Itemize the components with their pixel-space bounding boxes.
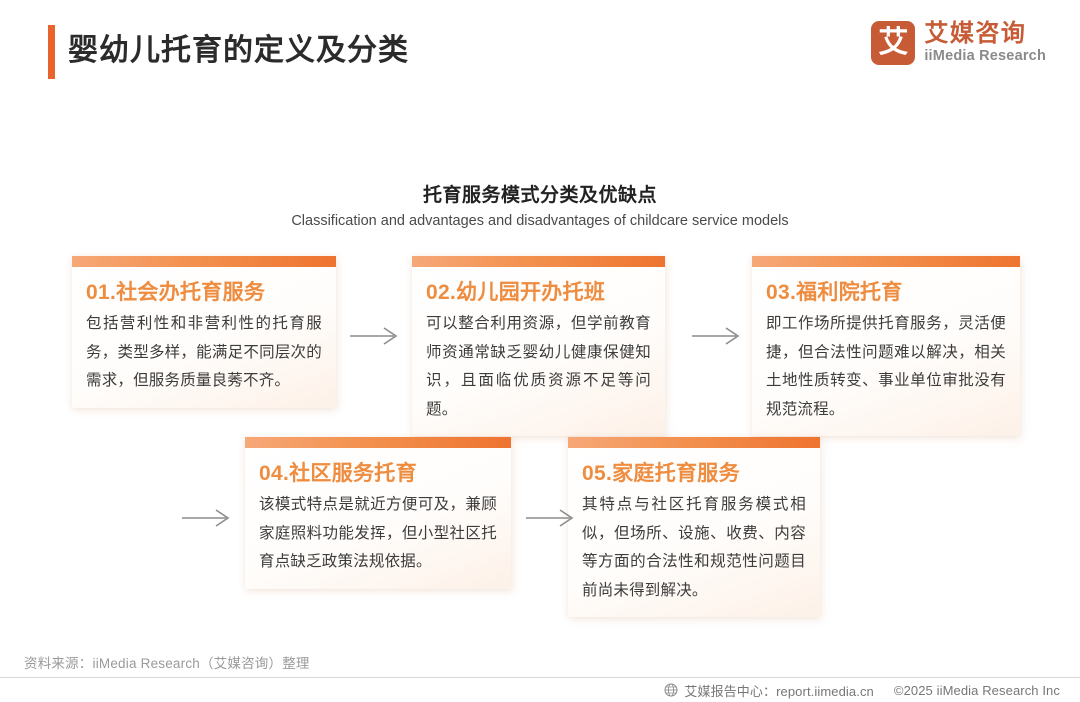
model-card-03: 03.福利院托育 即工作场所提供托育服务，灵活便捷，但合法性问题难以解决，相关土…	[752, 256, 1020, 436]
card-description: 其特点与社区托育服务模式相似，但场所、设施、收费、内容等方面的合法性和规范性问题…	[582, 491, 806, 605]
card-top-bar	[568, 437, 820, 448]
card-description: 即工作场所提供托育服务，灵活便捷，但合法性问题难以解决，相关土地性质转变、事业单…	[766, 310, 1006, 424]
arrow-right-icon	[348, 325, 402, 347]
card-heading: 01.社会办托育服务	[86, 278, 322, 308]
brand-logo-text: 艾媒咨询 iiMedia Research	[924, 21, 1046, 65]
chart-title: 托育服务模式分类及优缺点	[0, 180, 1080, 207]
globe-icon	[664, 683, 678, 697]
iimedia-logo-icon: 艾	[871, 21, 915, 65]
model-card-02: 02.幼儿园开办托班 可以整合利用资源，但学前教育师资通常缺乏婴幼儿健康保健知识…	[412, 256, 665, 436]
card-body: 01.社会办托育服务 包括营利性和非营利性的托育服务，类型多样，能满足不同层次的…	[72, 267, 336, 408]
model-card-05: 05.家庭托育服务 其特点与社区托育服务模式相似，但场所、设施、收费、内容等方面…	[568, 437, 820, 617]
card-top-bar	[245, 437, 511, 448]
arrow-right-icon	[180, 507, 234, 529]
card-top-bar	[412, 256, 665, 267]
source-note: 资料来源：iiMedia Research（艾媒咨询）整理	[24, 652, 310, 672]
card-top-bar	[752, 256, 1020, 267]
report-center-link[interactable]: 艾媒报告中心：report.iimedia.cn	[684, 681, 874, 700]
card-description: 包括营利性和非营利性的托育服务，类型多样，能满足不同层次的需求，但服务质量良莠不…	[86, 310, 322, 396]
card-heading: 03.福利院托育	[766, 278, 1006, 308]
card-heading: 04.社区服务托育	[259, 459, 497, 489]
brand-name-en: iiMedia Research	[924, 48, 1046, 65]
chart-subtitle: Classification and advantages and disadv…	[0, 213, 1080, 229]
model-card-01: 01.社会办托育服务 包括营利性和非营利性的托育服务，类型多样，能满足不同层次的…	[72, 256, 336, 408]
arrow-right-icon	[524, 507, 578, 529]
page-title: 婴幼儿托育的定义及分类	[68, 27, 409, 75]
copyright-text: ©2025 iiMedia Research Inc	[894, 683, 1060, 698]
slide-page: 婴幼儿托育的定义及分类 艾 艾媒咨询 iiMedia Research 托育服务…	[0, 0, 1080, 702]
arrow-right-icon	[690, 325, 744, 347]
card-description: 可以整合利用资源，但学前教育师资通常缺乏婴幼儿健康保健知识，且面临优质资源不足等…	[426, 310, 651, 424]
footer-bar: 艾媒报告中心：report.iimedia.cn ©2025 iiMedia R…	[0, 678, 1080, 702]
brand-name-cn: 艾媒咨询	[924, 21, 1046, 47]
card-body: 05.家庭托育服务 其特点与社区托育服务模式相似，但场所、设施、收费、内容等方面…	[568, 448, 820, 617]
card-heading: 05.家庭托育服务	[582, 459, 806, 489]
card-heading: 02.幼儿园开办托班	[426, 278, 651, 308]
brand-logo: 艾 艾媒咨询 iiMedia Research	[871, 21, 1046, 65]
card-body: 02.幼儿园开办托班 可以整合利用资源，但学前教育师资通常缺乏婴幼儿健康保健知识…	[412, 267, 665, 436]
card-top-bar	[72, 256, 336, 267]
card-description: 该模式特点是就近方便可及，兼顾家庭照料功能发挥，但小型社区托育点缺乏政策法规依据…	[259, 491, 497, 577]
card-body: 03.福利院托育 即工作场所提供托育服务，灵活便捷，但合法性问题难以解决，相关土…	[752, 267, 1020, 436]
title-accent-bar	[48, 25, 55, 79]
model-card-04: 04.社区服务托育 该模式特点是就近方便可及，兼顾家庭照料功能发挥，但小型社区托…	[245, 437, 511, 589]
slide-header: 婴幼儿托育的定义及分类 艾 艾媒咨询 iiMedia Research	[0, 0, 1080, 104]
card-body: 04.社区服务托育 该模式特点是就近方便可及，兼顾家庭照料功能发挥，但小型社区托…	[245, 448, 511, 589]
